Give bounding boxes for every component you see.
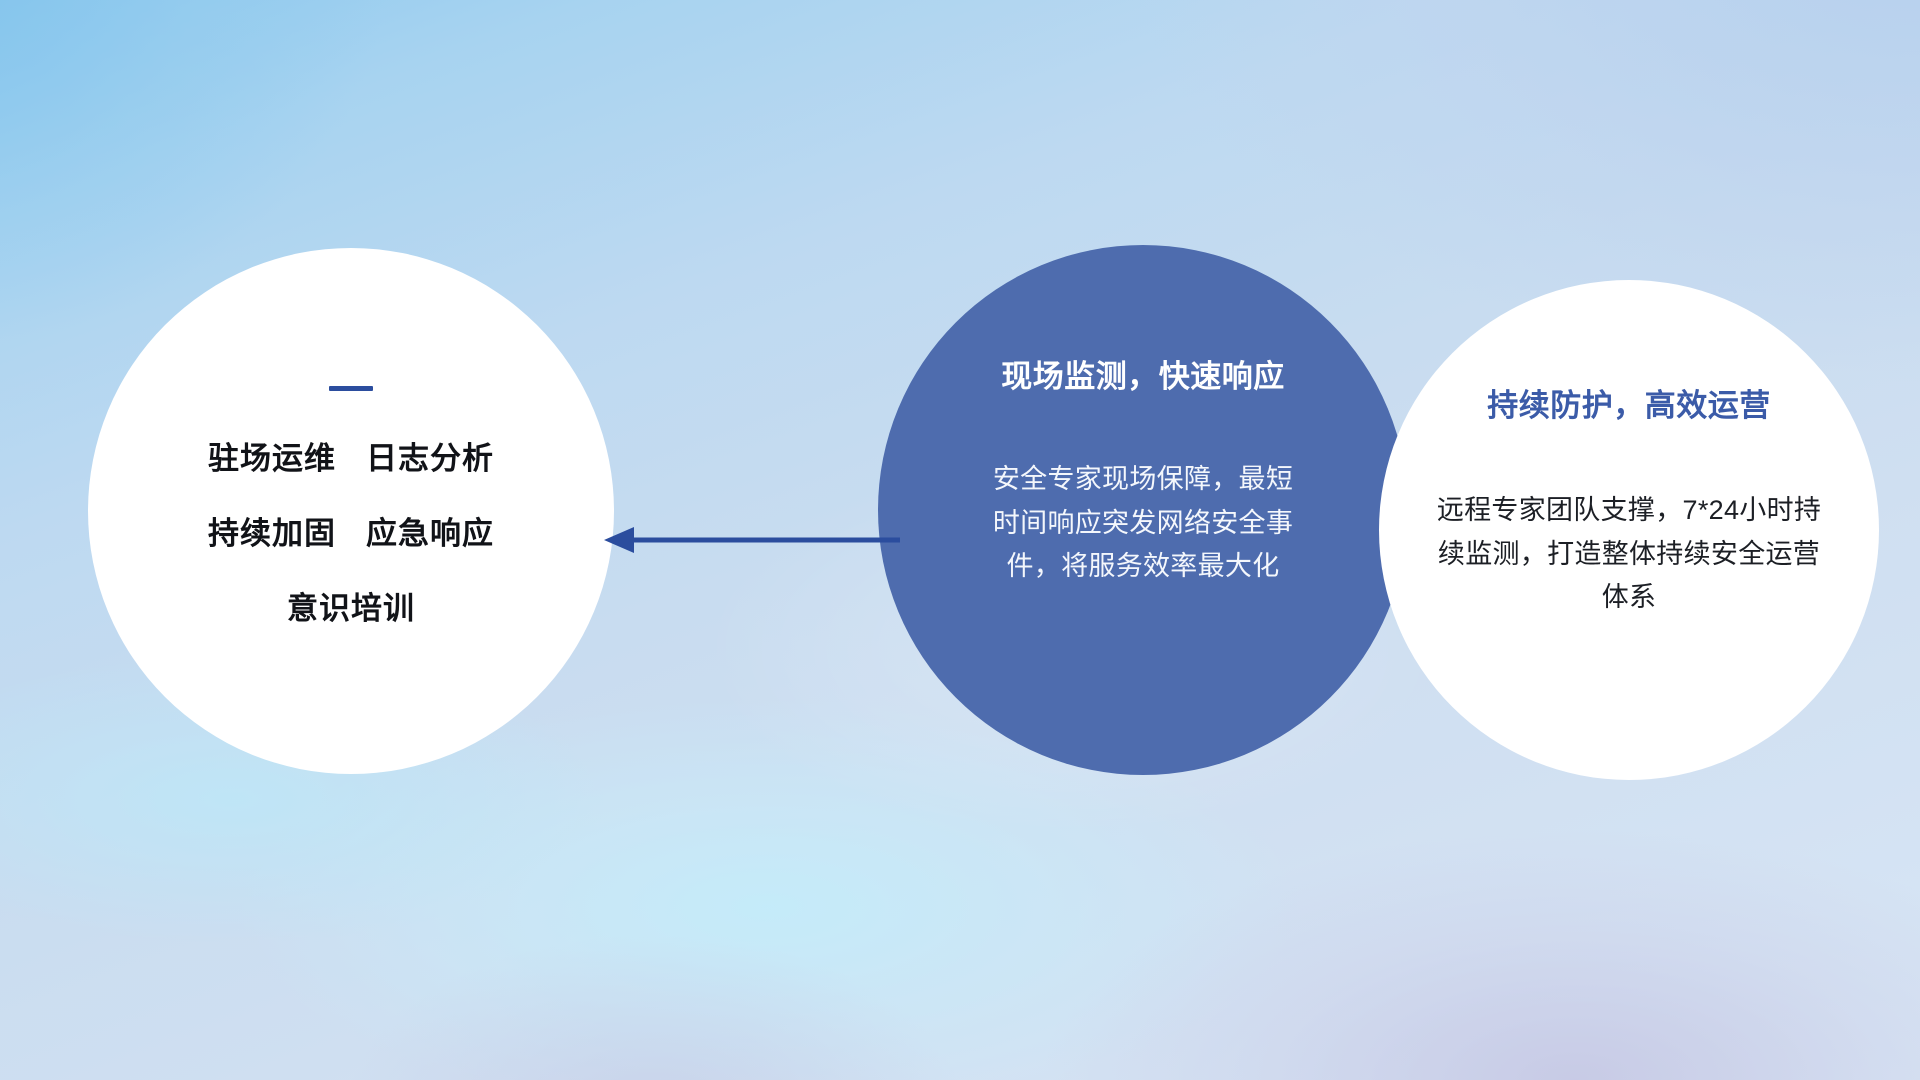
keyword-row: 意识培训 <box>116 593 586 624</box>
right-circle-body: 远程专家团队支撑，7*24小时持续监测，打造整体持续安全运营体系 <box>1431 489 1827 620</box>
keyword-row: 持续加固应急响应 <box>116 518 586 549</box>
left-circle-content: 驻场运维日志分析 持续加固应急响应 意识培训 <box>88 386 614 624</box>
keyword-label: 持续加固 <box>208 516 336 551</box>
keyword-label: 驻场运维 <box>208 441 336 476</box>
middle-circle-content: 现场监测，快速响应 安全专家现场保障，最短时间响应突发网络安全事件，将服务效率最… <box>878 351 1408 589</box>
middle-circle-card[interactable]: 现场监测，快速响应 安全专家现场保障，最短时间响应突发网络安全事件，将服务效率最… <box>878 245 1408 775</box>
flow-arrow-left <box>600 500 900 580</box>
slide-canvas: 驻场运维日志分析 持续加固应急响应 意识培训 现场监测，快速响应 安全专家现场保… <box>0 0 1920 1080</box>
middle-circle-body: 安全专家现场保障，最短时间响应突发网络安全事件，将服务效率最大化 <box>988 458 1298 589</box>
right-circle-card[interactable]: 持续防护，高效运营 远程专家团队支撑，7*24小时持续监测，打造整体持续安全运营… <box>1379 280 1879 780</box>
keyword-label: 应急响应 <box>366 516 494 551</box>
arrow-left-icon <box>600 500 900 580</box>
keyword-row: 驻场运维日志分析 <box>116 443 586 474</box>
left-circle-card[interactable]: 驻场运维日志分析 持续加固应急响应 意识培训 <box>88 248 614 774</box>
keyword-label: 意识培训 <box>287 591 415 626</box>
right-circle-content: 持续防护，高效运营 远程专家团队支撑，7*24小时持续监测，打造整体持续安全运营… <box>1379 380 1879 620</box>
right-circle-title: 持续防护，高效运营 <box>1405 380 1853 425</box>
accent-divider-line <box>329 386 373 391</box>
keyword-label: 日志分析 <box>366 441 494 476</box>
middle-circle-title: 现场监测，快速响应 <box>908 351 1378 396</box>
